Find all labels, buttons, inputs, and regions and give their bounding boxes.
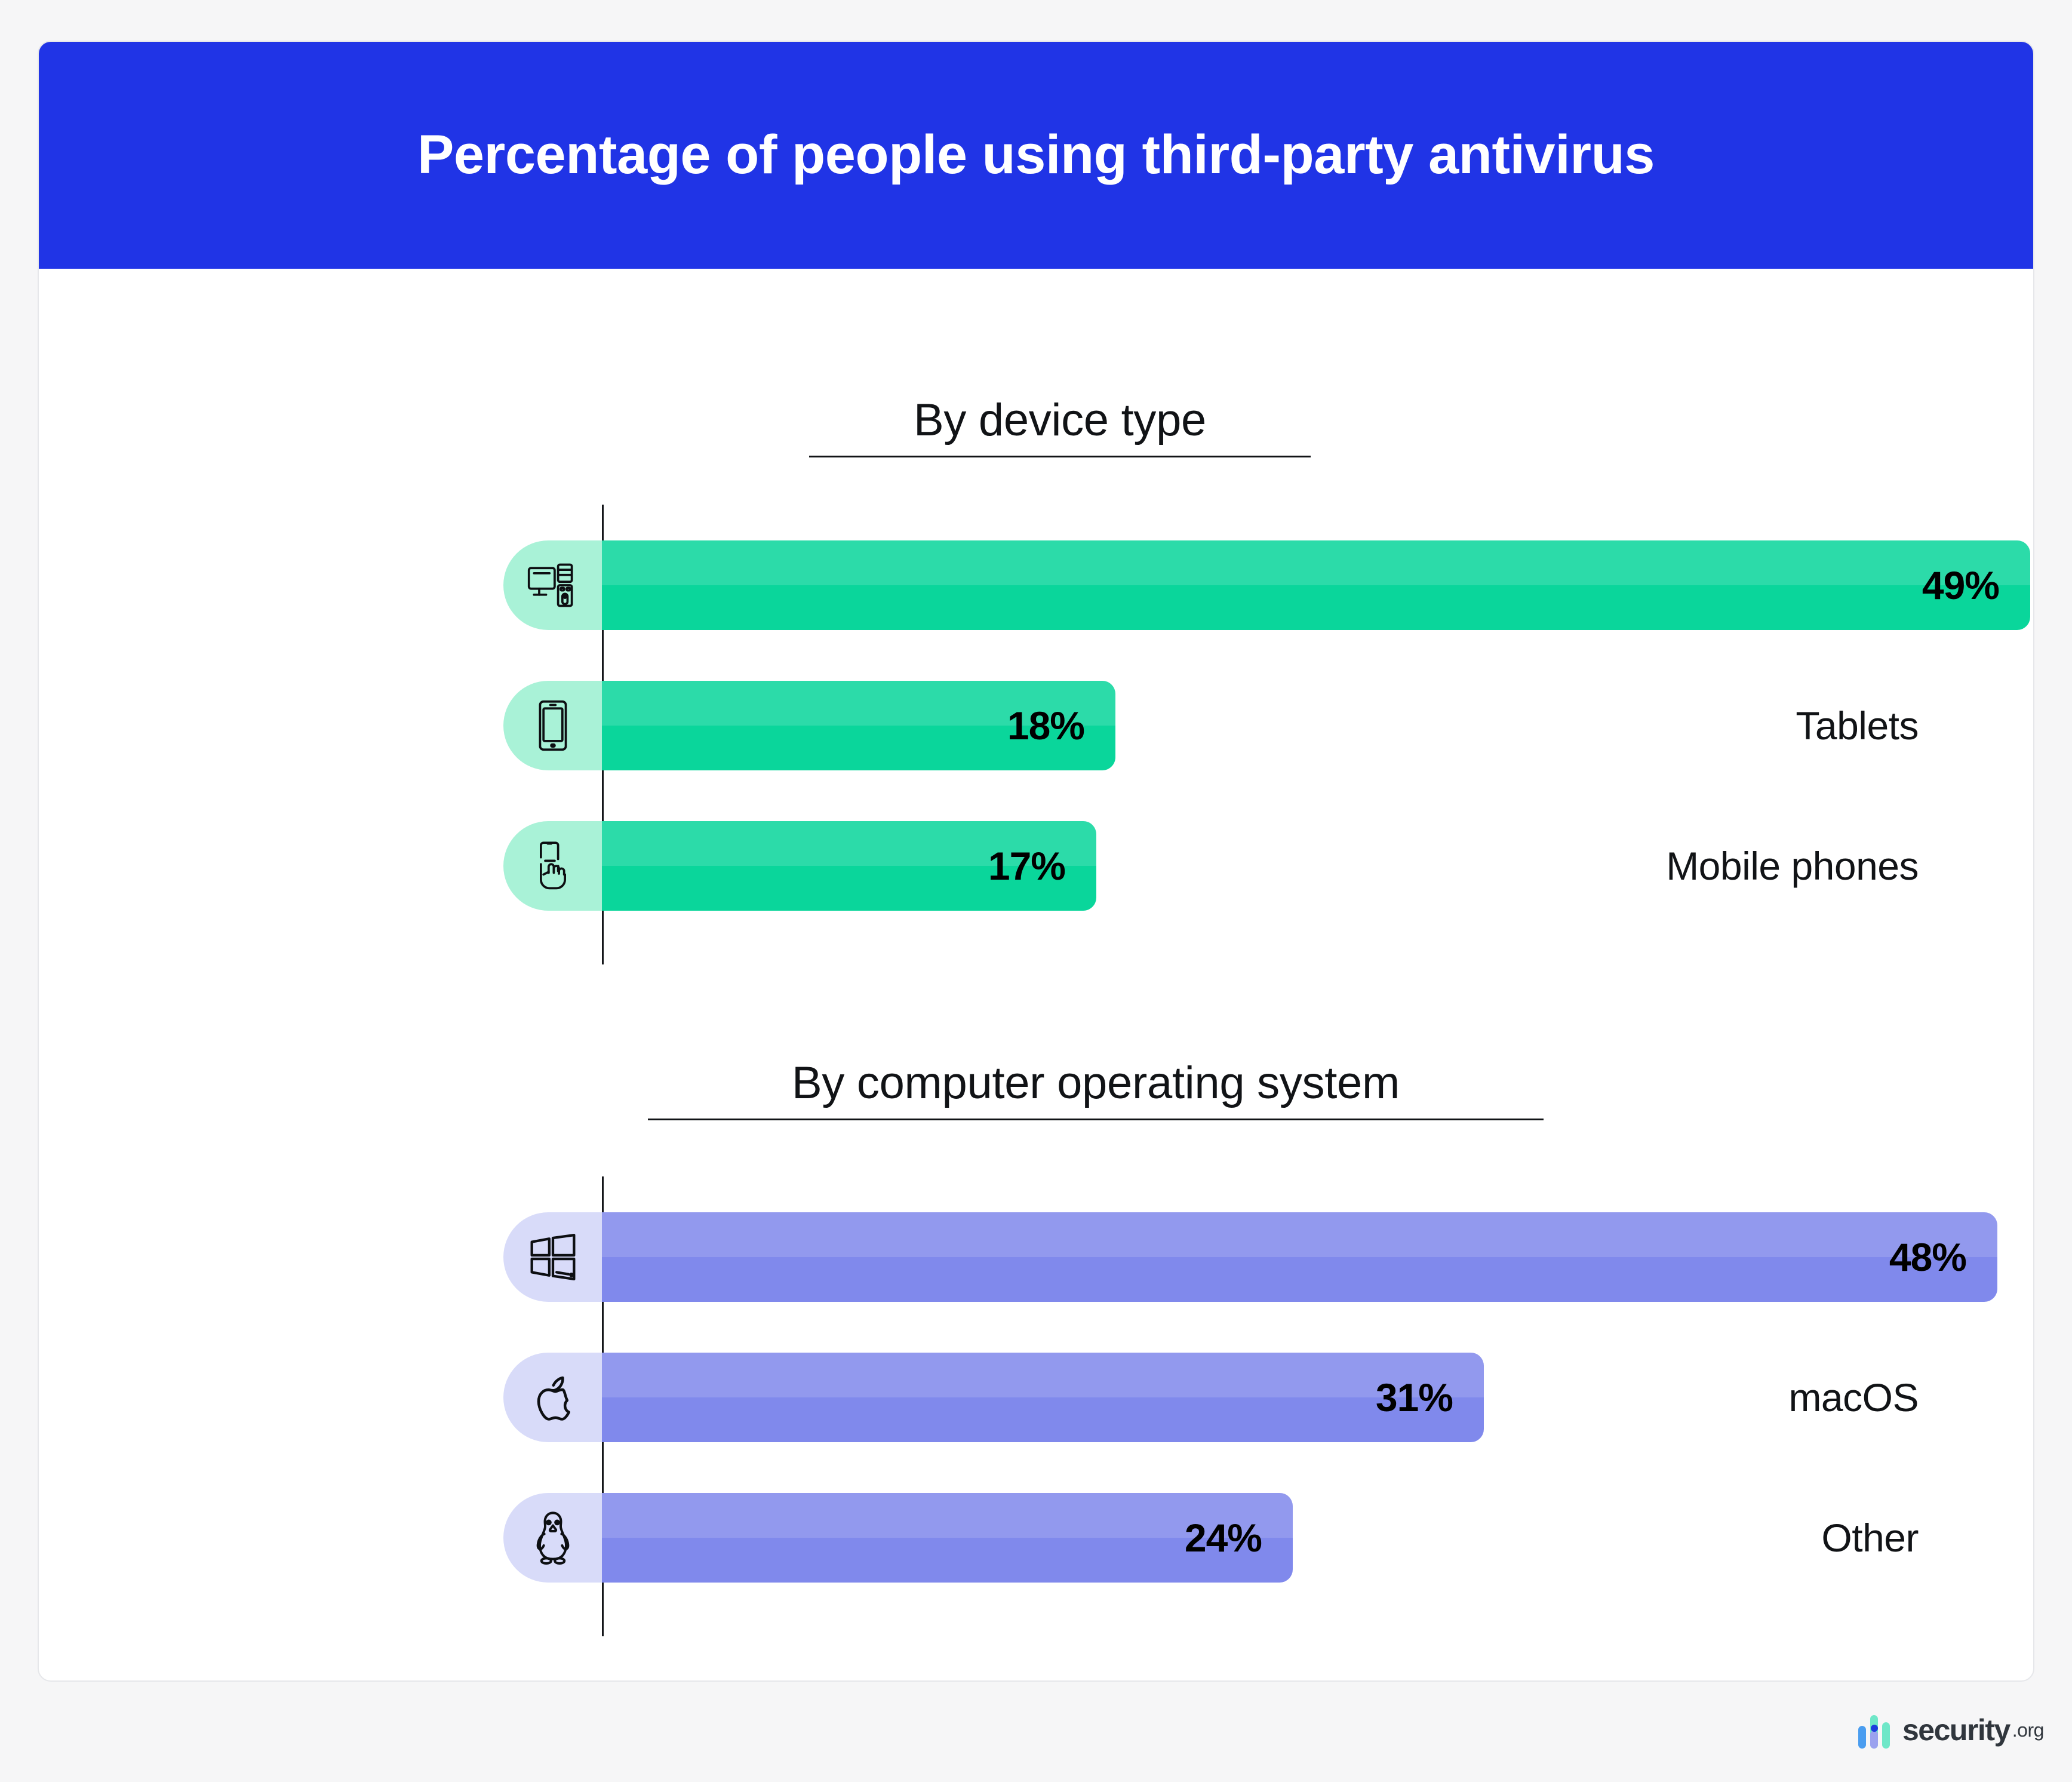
bar-value-label: 48% [1889,1234,1997,1280]
bar-value-label: 18% [1007,703,1115,748]
table-row: Tablets 18% [602,681,2034,770]
chart-by-operating-system: Windows 48% m [602,1176,2034,1636]
section-underline [809,456,1311,457]
bar-mobile-phones: 17% [602,821,1096,911]
section-title-text: By computer operating system [792,1057,1400,1109]
row-label: macOS [1788,1375,1936,1420]
bar-value-label: 17% [988,843,1096,889]
table-row: macOS 31% [602,1353,2034,1442]
bar-sheen [602,1212,1997,1257]
section-title-text: By device type [914,394,1206,446]
bar-value-label: 31% [1376,1375,1484,1420]
bar-macos: 31% [602,1353,1484,1442]
bar-value-label: 49% [1922,563,2030,608]
bar-other: 24% [602,1493,1293,1583]
row-label: Tablets [1796,703,1936,748]
security-org-logo[interactable]: security .org [1858,1712,2044,1749]
section-heading-operating-system: By computer operating system [648,1057,1544,1120]
linux-penguin-icon [503,1493,602,1583]
chart-by-device-type: PCs [602,505,2034,964]
table-row: Windows 48% [602,1212,2034,1302]
hand-tapping-phone-icon [503,821,602,911]
logo-wordmark: security [1902,1715,2010,1745]
logo-tld: .org [2012,1719,2044,1741]
section-underline [648,1119,1544,1120]
page-title: Percentage of people using third-party a… [417,125,1655,185]
bar-windows: 48% [602,1212,1997,1302]
section-heading-device-type: By device type [809,394,1311,457]
windows-logo-icon [503,1212,602,1302]
bar-value-label: 24% [1185,1515,1293,1560]
infographic-root: Percentage of people using third-party a… [0,0,2072,1782]
tablet-icon [503,681,602,770]
bar-sheen [602,1353,1484,1397]
logo-bars-icon [1858,1712,1892,1749]
bar-pcs: 49% [602,540,2030,630]
apple-logo-icon [503,1353,602,1442]
infographic-card: Percentage of people using third-party a… [38,41,2034,1682]
desktop-computer-icon [503,540,602,630]
table-row: Mobile phones [602,821,2034,911]
header-banner: Percentage of people using third-party a… [39,42,2033,269]
row-label: Mobile phones [1666,843,1936,889]
row-label: Other [1821,1515,1936,1560]
bar-tablets: 18% [602,681,1115,770]
table-row: PCs [602,540,2034,630]
table-row: Other [602,1493,2034,1583]
bar-sheen [602,540,2030,585]
